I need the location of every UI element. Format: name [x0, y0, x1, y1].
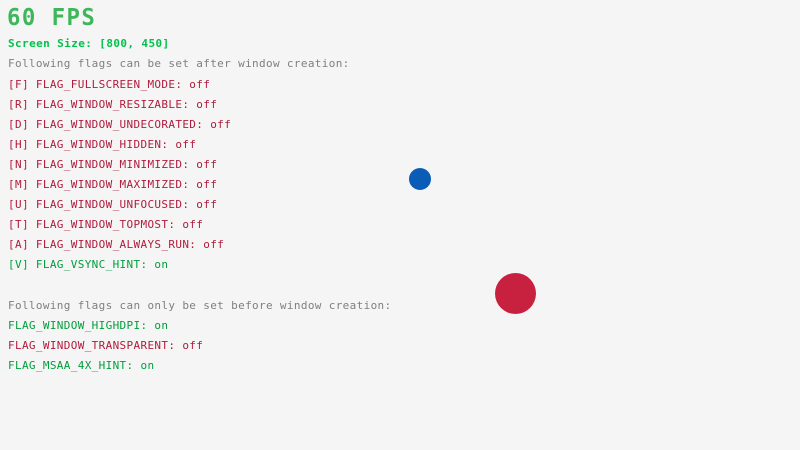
flag-row-window-always-run[interactable]: [A] FLAG_WINDOW_ALWAYS_RUN: off — [8, 239, 224, 250]
flag-row-msaa-4x-hint: FLAG_MSAA_4X_HINT: on — [8, 360, 154, 371]
red-circle-shape — [495, 273, 536, 314]
fps-counter: 60 FPS — [7, 7, 96, 30]
flag-row-window-undecorated[interactable]: [D] FLAG_WINDOW_UNDECORATED: off — [8, 119, 231, 130]
flag-row-vsync-hint[interactable]: [V] FLAG_VSYNC_HINT: on — [8, 259, 168, 270]
app-canvas: 60 FPS Screen Size: [800, 450] Following… — [0, 0, 800, 450]
screen-size-label: Screen Size: [800, 450] — [8, 38, 170, 49]
flag-row-window-transparent: FLAG_WINDOW_TRANSPARENT: off — [8, 340, 203, 351]
flag-row-window-highdpi: FLAG_WINDOW_HIGHDPI: on — [8, 320, 168, 331]
runtime-flags-header: Following flags can be set after window … — [8, 58, 350, 69]
flag-row-window-hidden[interactable]: [H] FLAG_WINDOW_HIDDEN: off — [8, 139, 196, 150]
creation-flags-header: Following flags can only be set before w… — [8, 300, 392, 311]
flag-row-window-minimized[interactable]: [N] FLAG_WINDOW_MINIMIZED: off — [8, 159, 217, 170]
blue-circle-shape — [409, 168, 431, 190]
flag-row-window-maximized[interactable]: [M] FLAG_WINDOW_MAXIMIZED: off — [8, 179, 217, 190]
flag-row-window-resizable[interactable]: [R] FLAG_WINDOW_RESIZABLE: off — [8, 99, 217, 110]
flag-row-fullscreen-mode[interactable]: [F] FLAG_FULLSCREEN_MODE: off — [8, 79, 210, 90]
flag-row-window-topmost[interactable]: [T] FLAG_WINDOW_TOPMOST: off — [8, 219, 203, 230]
flag-row-window-unfocused[interactable]: [U] FLAG_WINDOW_UNFOCUSED: off — [8, 199, 217, 210]
